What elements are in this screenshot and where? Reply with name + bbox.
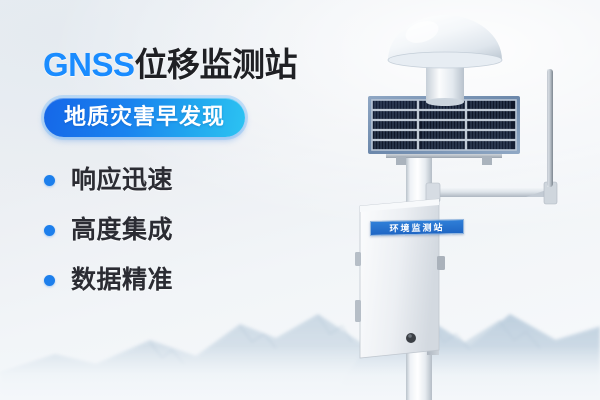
bullet-dot-icon (44, 275, 55, 286)
product-banner: GNSS位移监测站 地质灾害早发现 响应迅速 高度集成 数据精准 (0, 0, 600, 400)
headline-rest: 位移监测站 (135, 46, 298, 83)
tagline-badge: 地质灾害早发现 (44, 98, 245, 137)
page-title: GNSS位移监测站 (43, 48, 344, 81)
feature-label: 数据精准 (71, 268, 173, 293)
copy-block: GNSS位移监测站 地质灾害早发现 响应迅速 高度集成 数据精准 (44, 48, 344, 309)
monitoring-station-illustration: 环境监测站 (330, 0, 600, 400)
list-item: 响应迅速 (44, 167, 344, 193)
gnss-dome-antenna (388, 15, 502, 106)
cross-arm (426, 182, 557, 204)
feature-label: 高度集成 (71, 218, 173, 243)
feature-label: 响应迅速 (71, 168, 173, 193)
list-item: 数据精准 (44, 267, 344, 293)
bullet-dot-icon (44, 175, 55, 186)
headline-brand: GNSS (43, 46, 135, 83)
feature-list: 响应迅速 高度集成 数据精准 (44, 167, 344, 293)
list-item: 高度集成 (44, 217, 344, 243)
bullet-dot-icon (44, 225, 55, 236)
device-nameplate: 环境监测站 (370, 219, 464, 236)
